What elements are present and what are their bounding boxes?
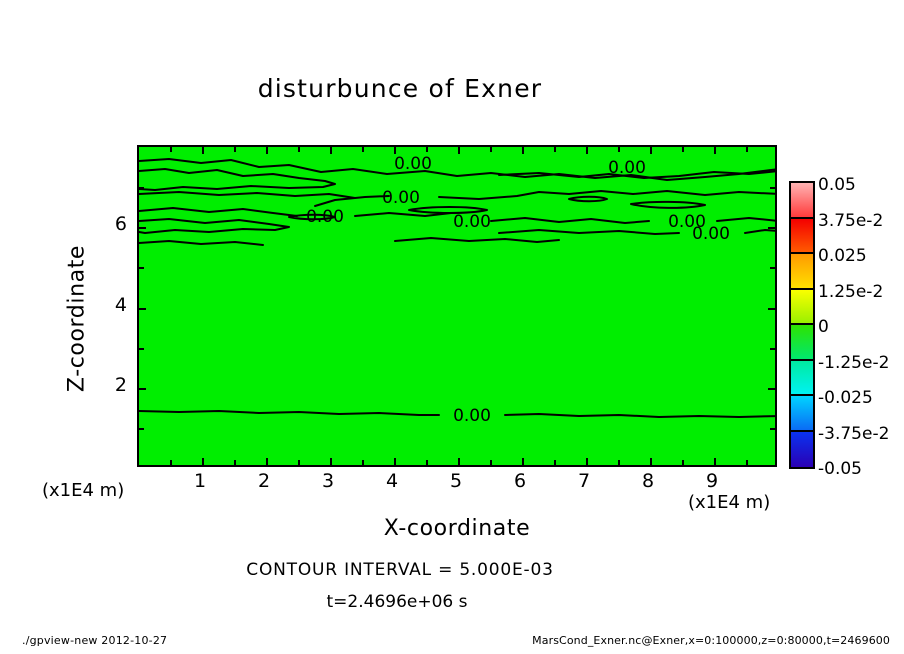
y-axis-right-tick bbox=[768, 227, 775, 229]
y-axis-tick bbox=[139, 227, 146, 229]
contour-value-label: 0.00 bbox=[608, 158, 646, 178]
colorbar-band-6 bbox=[791, 396, 813, 432]
contour-value-label: 0.00 bbox=[453, 406, 491, 426]
x-axis-top-tick bbox=[394, 147, 396, 154]
x-axis-top-minor-tick bbox=[746, 147, 748, 152]
x-tick-label-7: 7 bbox=[564, 470, 604, 492]
contour-value-label: 0.00 bbox=[453, 212, 491, 232]
y-axis-minor-tick bbox=[139, 187, 144, 189]
y-axis-tick bbox=[139, 308, 146, 310]
x-axis-tick bbox=[586, 458, 588, 465]
colorbar-label-5: -1.25e-2 bbox=[818, 353, 889, 373]
x-axis-minor-tick bbox=[234, 460, 236, 465]
x-axis-minor-tick bbox=[426, 460, 428, 465]
contour-plot-area[interactable]: 0.00 0.00 0.00 0.00 0.00 0.00 0.00 0.00 bbox=[137, 145, 777, 467]
x-axis-tick bbox=[650, 458, 652, 465]
colorbar-band-7 bbox=[791, 432, 813, 468]
x-axis-tick bbox=[330, 458, 332, 465]
contour-lines: 0.00 0.00 0.00 0.00 0.00 0.00 0.00 0.00 bbox=[139, 147, 777, 467]
y-axis-tick bbox=[139, 388, 146, 390]
x-axis-top-minor-tick bbox=[362, 147, 364, 152]
x-axis-top-minor-tick bbox=[490, 147, 492, 152]
colorbar-band-4 bbox=[791, 325, 813, 361]
contour-value-label: 0.00 bbox=[394, 154, 432, 174]
x-tick-label-2: 2 bbox=[244, 470, 284, 492]
x-axis-top-minor-tick bbox=[298, 147, 300, 152]
x-tick-label-4: 4 bbox=[372, 470, 412, 492]
y-axis-right-minor-tick bbox=[770, 267, 775, 269]
colorbar-label-2: 0.025 bbox=[818, 246, 867, 266]
x-axis-title: X-coordinate bbox=[137, 516, 777, 541]
y-tick-label-6: 6 bbox=[97, 213, 127, 235]
y-axis-minor-tick bbox=[139, 267, 144, 269]
colorbar-label-8: -0.05 bbox=[818, 459, 862, 479]
x-axis-minor-tick bbox=[682, 460, 684, 465]
y-axis-minor-tick bbox=[139, 428, 144, 430]
x-axis-top-minor-tick bbox=[682, 147, 684, 152]
x-tick-label-3: 3 bbox=[308, 470, 348, 492]
time-annotation: t=2.4696e+06 s bbox=[0, 592, 904, 612]
y-axis-right-minor-tick bbox=[770, 348, 775, 350]
colorbar-label-1: 3.75e-2 bbox=[818, 211, 883, 231]
contour-value-label: 0.00 bbox=[306, 207, 344, 227]
colorbar-label-3: 1.25e-2 bbox=[818, 282, 883, 302]
x-tick-label-9: 9 bbox=[692, 470, 732, 492]
contour-interval-note: CONTOUR INTERVAL = 5.000E-03 bbox=[0, 560, 800, 580]
colorbar-band-3 bbox=[791, 290, 813, 326]
x-axis-top-tick bbox=[266, 147, 268, 154]
colorbar-label-0: 0.05 bbox=[818, 175, 856, 195]
x-tick-label-8: 8 bbox=[628, 470, 668, 492]
y-axis-minor-tick bbox=[139, 348, 144, 350]
x-axis-minor-tick bbox=[362, 460, 364, 465]
y-axis-title: Z-coordinate bbox=[65, 189, 90, 449]
x-axis-minor-tick bbox=[170, 460, 172, 465]
x-axis-top-tick bbox=[330, 147, 332, 154]
colorbar-label-6: -0.025 bbox=[818, 388, 873, 408]
x-axis-top-tick bbox=[202, 147, 204, 154]
x-axis-top-tick bbox=[586, 147, 588, 154]
x-axis-top-minor-tick bbox=[170, 147, 172, 152]
x-axis-top-tick bbox=[458, 147, 460, 154]
colorbar-label-4: 0 bbox=[818, 317, 829, 337]
x-axis-tick bbox=[714, 458, 716, 465]
y-tick-label-2: 2 bbox=[97, 374, 127, 396]
x-axis-tick bbox=[394, 458, 396, 465]
footer-dataset-info: MarsCond_Exner.nc@Exner,x=0:100000,z=0:8… bbox=[532, 634, 890, 647]
y-axis-right-minor-tick bbox=[770, 428, 775, 430]
colorbar[interactable] bbox=[789, 181, 815, 469]
y-axis-right-minor-tick bbox=[770, 187, 775, 189]
x-axis-minor-tick bbox=[298, 460, 300, 465]
x-axis-top-minor-tick bbox=[426, 147, 428, 152]
x-axis-minor-tick bbox=[490, 460, 492, 465]
y-tick-label-4: 4 bbox=[97, 294, 127, 316]
x-tick-label-5: 5 bbox=[436, 470, 476, 492]
y-axis-right-tick bbox=[768, 308, 775, 310]
footer-command-info: ./gpview-new 2012-10-27 bbox=[22, 634, 167, 647]
x-axis-unit-left: (x1E4 m) bbox=[42, 480, 124, 501]
x-axis-top-tick bbox=[714, 147, 716, 154]
colorbar-band-0 bbox=[791, 183, 813, 219]
x-axis-tick bbox=[458, 458, 460, 465]
x-axis-minor-tick bbox=[618, 460, 620, 465]
x-axis-unit-right: (x1E4 m) bbox=[688, 492, 770, 513]
x-tick-label-6: 6 bbox=[500, 470, 540, 492]
x-tick-label-1: 1 bbox=[180, 470, 220, 492]
y-axis-right-tick bbox=[768, 388, 775, 390]
contour-value-label: 0.00 bbox=[382, 188, 420, 208]
x-axis-top-minor-tick bbox=[234, 147, 236, 152]
x-axis-minor-tick bbox=[554, 460, 556, 465]
x-axis-tick bbox=[266, 458, 268, 465]
x-axis-top-minor-tick bbox=[618, 147, 620, 152]
x-axis-minor-tick bbox=[746, 460, 748, 465]
colorbar-band-2 bbox=[791, 254, 813, 290]
x-axis-tick bbox=[202, 458, 204, 465]
x-axis-top-tick bbox=[650, 147, 652, 154]
page-title: disturbunce of Exner bbox=[0, 74, 800, 103]
x-axis-tick bbox=[522, 458, 524, 465]
colorbar-label-7: -3.75e-2 bbox=[818, 424, 889, 444]
x-axis-top-minor-tick bbox=[554, 147, 556, 152]
colorbar-band-1 bbox=[791, 219, 813, 255]
contour-value-label: 0.00 bbox=[692, 224, 730, 244]
colorbar-band-5 bbox=[791, 361, 813, 397]
x-axis-top-tick bbox=[522, 147, 524, 154]
